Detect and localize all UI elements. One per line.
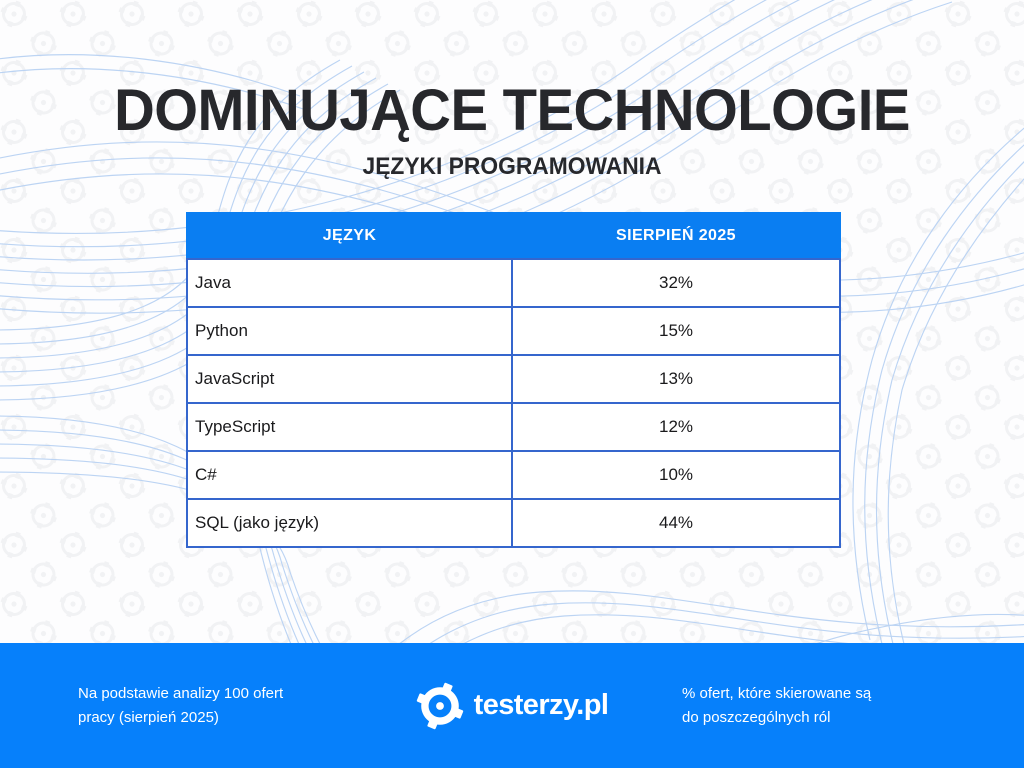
- cell-language: Python: [187, 307, 512, 355]
- footer-legend-note: % ofert, które skierowane są do poszczeg…: [682, 682, 1024, 730]
- cell-value: 10%: [512, 451, 840, 499]
- table-row: SQL (jako język) 44%: [187, 499, 840, 547]
- cell-value: 44%: [512, 499, 840, 547]
- cell-value: 12%: [512, 403, 840, 451]
- cell-language: SQL (jako język): [187, 499, 512, 547]
- page-title: DOMINUJĄCE TECHNOLOGIE: [15, 82, 1008, 140]
- languages-table-container: JĘZYK SIERPIEŃ 2025 Java 32% Python 15% …: [186, 212, 839, 548]
- table-row: JavaScript 13%: [187, 355, 840, 403]
- infographic-canvas: DOMINUJĄCE TECHNOLOGIE JĘZYKI PROGRAMOWA…: [0, 0, 1024, 768]
- footer-legend-line-2: do poszczególnych ról: [682, 706, 982, 730]
- cell-language: Java: [187, 259, 512, 307]
- table-row: Python 15%: [187, 307, 840, 355]
- cell-language: JavaScript: [187, 355, 512, 403]
- languages-table: JĘZYK SIERPIEŃ 2025 Java 32% Python 15% …: [186, 212, 841, 548]
- cell-value: 32%: [512, 259, 840, 307]
- table-row: TypeScript 12%: [187, 403, 840, 451]
- cell-language: C#: [187, 451, 512, 499]
- testerzy-crosshair-icon: [416, 682, 464, 730]
- footer-source-line-2: pracy (sierpień 2025): [78, 706, 342, 730]
- column-header-language: JĘZYK: [187, 213, 512, 259]
- footer-source-line-1: Na podstawie analizy 100 ofert: [78, 682, 342, 706]
- table-row: Java 32%: [187, 259, 840, 307]
- table-row: C# 10%: [187, 451, 840, 499]
- header-block: DOMINUJĄCE TECHNOLOGIE JĘZYKI PROGRAMOWA…: [0, 0, 1024, 180]
- footer-legend-line-1: % ofert, które skierowane są: [682, 682, 982, 706]
- cell-value: 15%: [512, 307, 840, 355]
- footer-source-note: Na podstawie analizy 100 ofert pracy (si…: [0, 682, 342, 730]
- cell-language: TypeScript: [187, 403, 512, 451]
- brand-logo[interactable]: testerzy.pl: [342, 682, 682, 730]
- brand-name: testerzy.pl: [474, 689, 609, 722]
- page-subtitle: JĘZYKI PROGRAMOWANIA: [26, 154, 999, 180]
- column-header-august-2025: SIERPIEŃ 2025: [512, 213, 840, 259]
- table-header-row: JĘZYK SIERPIEŃ 2025: [187, 213, 840, 259]
- cell-value: 13%: [512, 355, 840, 403]
- footer-band: Na podstawie analizy 100 ofert pracy (si…: [0, 643, 1024, 768]
